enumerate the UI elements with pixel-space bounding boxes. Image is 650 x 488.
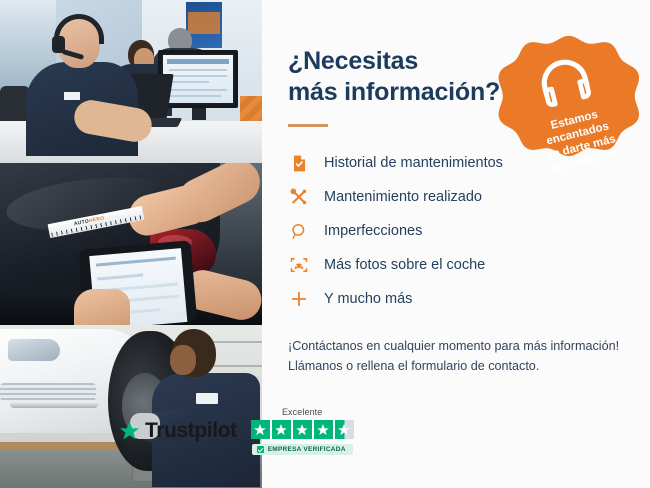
monitor-row — [169, 81, 209, 83]
trustpilot-name: Trustpilot — [145, 419, 237, 443]
feature-item-mantenimiento: Mantenimiento realizado — [288, 180, 624, 214]
tablet-row — [97, 273, 143, 280]
car-chrome-trim — [10, 401, 98, 408]
contact-text: ¡Contáctanos en cualquier momento para m… — [288, 336, 624, 377]
wrench-screwdriver-icon — [288, 186, 310, 208]
car-inspection-tablet-photo: AUTOHERO — [0, 163, 262, 326]
feature-label: Mantenimiento realizado — [324, 189, 482, 205]
car-headlight — [8, 339, 60, 361]
wall-poster-accent — [188, 12, 220, 34]
verified-business-badge: EMPRESA VERIFICADA — [252, 444, 353, 455]
feature-item-fotos: Más fotos sobre el coche — [288, 248, 624, 282]
trustpilot-star-icon — [118, 420, 141, 443]
monitor-row — [169, 95, 221, 97]
monitor-screen — [163, 55, 233, 103]
feature-label: Más fotos sobre el coche — [324, 257, 485, 273]
car-photo-scan-icon — [288, 254, 310, 276]
monitor-row — [169, 75, 227, 77]
star-filled — [251, 420, 270, 439]
feature-label: Y mucho más — [324, 291, 412, 307]
star-filled — [314, 420, 333, 439]
mechanic-badge — [196, 393, 218, 404]
monitor-row — [169, 89, 227, 91]
inspector-hand-lower — [74, 289, 130, 326]
page-title-line-two: más información? — [288, 78, 500, 106]
trustpilot-rating-label: Excelente — [282, 407, 322, 417]
car-grille — [0, 383, 96, 401]
contact-line-one: ¡Contáctanos en cualquier momento para m… — [288, 339, 619, 353]
title-divider — [288, 124, 328, 127]
plus-icon — [288, 288, 310, 310]
magnifier-icon — [288, 220, 310, 242]
tablet-row — [96, 256, 176, 266]
monitor-toolbar — [167, 59, 229, 64]
help-badge: Estamos encantados de darte más informac… — [498, 28, 640, 170]
verified-label: EMPRESA VERIFICADA — [268, 446, 346, 453]
trustpilot-logo[interactable]: Trustpilot — [118, 419, 237, 443]
contact-line-two: Llámanos o rellena el formulario de cont… — [288, 359, 539, 373]
trustpilot-stars — [251, 420, 354, 439]
monitor-stand — [192, 108, 206, 120]
feature-item-imperfecciones: Imperfecciones — [288, 214, 624, 248]
trustpilot-rating: Excelente EMPRESA — [251, 407, 354, 455]
info-promo-card: AUTOHERO — [0, 0, 650, 488]
call-center-agents-photo — [0, 0, 262, 163]
document-check-icon — [288, 152, 310, 174]
mechanic-face — [170, 345, 196, 375]
star-filled — [293, 420, 312, 439]
page-title-line-one: ¿Necesitas — [288, 47, 418, 75]
star-filled — [272, 420, 291, 439]
check-badge-icon — [257, 446, 264, 453]
trustpilot-widget[interactable]: Trustpilot Excelente — [118, 407, 354, 455]
badge-starburst-shape — [498, 28, 640, 170]
feature-item-mas: Y mucho más — [288, 282, 624, 316]
feature-list: Historial de mantenimientos Mantenimient… — [288, 146, 624, 316]
page-title: ¿Necesitas más información? — [288, 46, 518, 107]
feature-label: Historial de mantenimientos — [324, 155, 503, 171]
star-half — [335, 420, 354, 439]
feature-label: Imperfecciones — [324, 223, 422, 239]
agent-one-badge — [64, 92, 80, 100]
monitor-row — [169, 69, 227, 71]
